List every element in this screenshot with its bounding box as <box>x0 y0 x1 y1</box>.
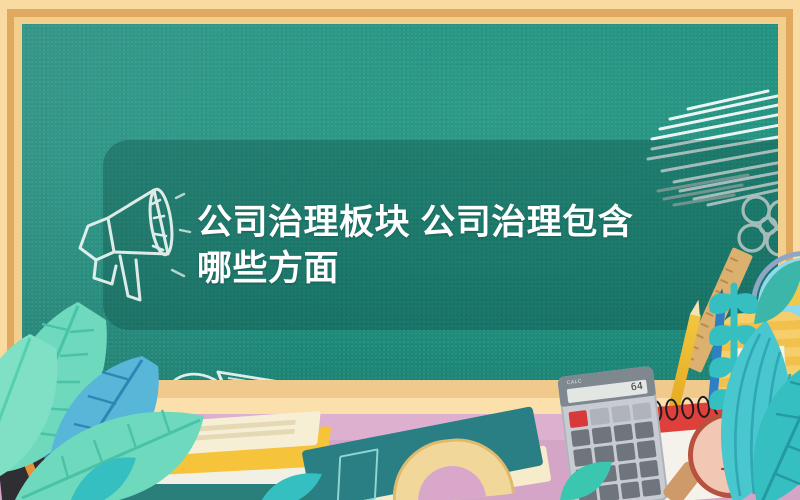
page-headline: 公司治理板块 公司治理包含哪些方面 <box>197 200 667 292</box>
poster-canvas: 公司治理板块 公司治理包含哪些方面 Home School <box>0 0 800 500</box>
leaf-teal-pot-bottom <box>556 458 616 500</box>
book-label <box>337 448 379 500</box>
leaf-teal-top-right <box>748 258 800 328</box>
leaf-teal-large-right <box>742 352 800 500</box>
leaf-teal-small-bottom <box>62 452 142 500</box>
leaf-teal-center-bottom <box>256 470 326 500</box>
